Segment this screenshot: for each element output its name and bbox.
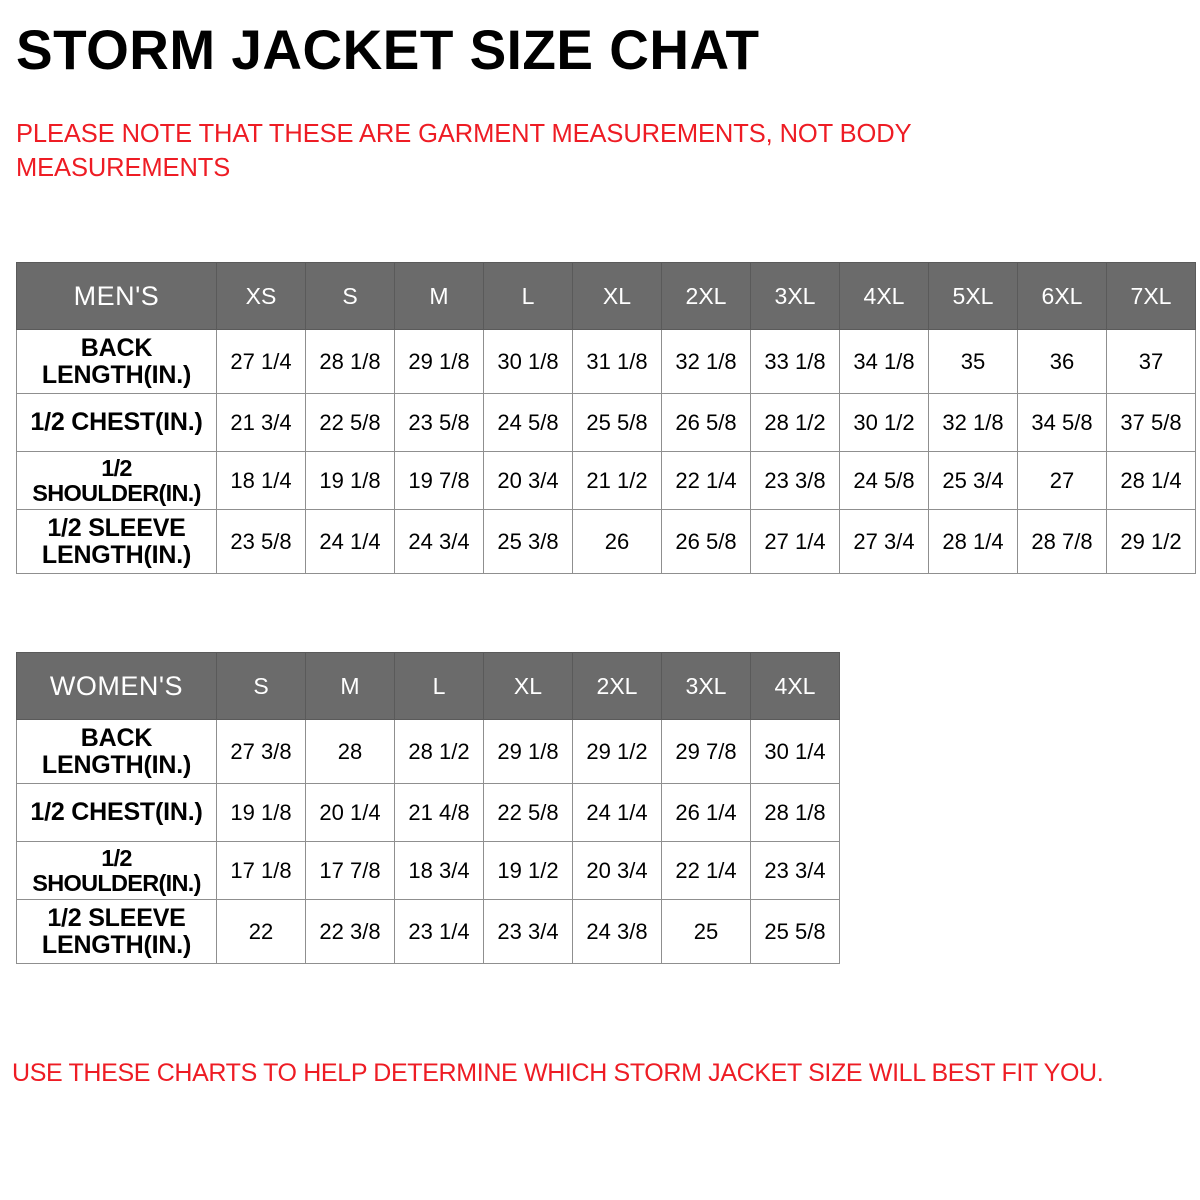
mens-size-header-6xl: 6XL — [1018, 263, 1107, 330]
measurement-cell: 21 3/4 — [217, 394, 306, 452]
measurement-cell: 30 1/8 — [484, 330, 573, 394]
measurement-cell: 34 1/8 — [840, 330, 929, 394]
measurement-cell: 23 3/4 — [751, 842, 840, 900]
mens-header-row: MEN'SXSSMLXL2XL3XL4XL5XL6XL7XL — [17, 263, 1196, 330]
measurement-cell: 19 1/8 — [217, 784, 306, 842]
womens-size-header-s: S — [217, 653, 306, 720]
measurement-cell: 20 1/4 — [306, 784, 395, 842]
measurement-cell: 27 3/4 — [840, 510, 929, 574]
womens-row-label: 1/2 SLEEVE LENGTH(IN.) — [17, 900, 217, 964]
measurement-cell: 29 1/8 — [395, 330, 484, 394]
mens-size-header-s: S — [306, 263, 395, 330]
measurement-cell: 29 1/8 — [484, 720, 573, 784]
womens-size-header-m: M — [306, 653, 395, 720]
measurement-cell: 23 3/4 — [484, 900, 573, 964]
mens-size-header-4xl: 4XL — [840, 263, 929, 330]
mens-table-head: MEN'SXSSMLXL2XL3XL4XL5XL6XL7XL — [17, 263, 1196, 330]
mens-size-header-3xl: 3XL — [751, 263, 840, 330]
table-row: BACK LENGTH(IN.)27 1/428 1/829 1/830 1/8… — [17, 330, 1196, 394]
measurement-cell: 28 1/4 — [929, 510, 1018, 574]
measurement-cell: 35 — [929, 330, 1018, 394]
measurement-cell: 22 5/8 — [306, 394, 395, 452]
mens-size-header-l: L — [484, 263, 573, 330]
table-row: 1/2 SLEEVE LENGTH(IN.)23 5/824 1/424 3/4… — [17, 510, 1196, 574]
table-row: BACK LENGTH(IN.)27 3/82828 1/229 1/829 1… — [17, 720, 840, 784]
womens-size-header-4xl: 4XL — [751, 653, 840, 720]
size-chart-page: STORM JACKET SIZE CHAT PLEASE NOTE THAT … — [0, 0, 1200, 1200]
measurement-cell: 28 — [306, 720, 395, 784]
womens-size-header-l: L — [395, 653, 484, 720]
womens-row-label: 1/2 CHEST(IN.) — [17, 784, 217, 842]
measurement-cell: 21 4/8 — [395, 784, 484, 842]
measurement-cell: 23 5/8 — [395, 394, 484, 452]
measurement-cell: 28 1/2 — [395, 720, 484, 784]
measurement-cell: 25 5/8 — [751, 900, 840, 964]
womens-row-label: 1/2 SHOULDER(IN.) — [17, 842, 217, 900]
womens-size-header-3xl: 3XL — [662, 653, 751, 720]
measurement-cell: 23 3/8 — [751, 452, 840, 510]
womens-size-table: WOMEN'SSMLXL2XL3XL4XL BACK LENGTH(IN.)27… — [16, 652, 840, 964]
measurement-cell: 20 3/4 — [573, 842, 662, 900]
mens-row-label: 1/2 SHOULDER(IN.) — [17, 452, 217, 510]
mens-table-body: BACK LENGTH(IN.)27 1/428 1/829 1/830 1/8… — [17, 330, 1196, 574]
help-determine-size-note: USE THESE CHARTS TO HELP DETERMINE WHICH… — [12, 1058, 1172, 1089]
table-row: 1/2 CHEST(IN.)19 1/820 1/421 4/822 5/824… — [17, 784, 840, 842]
measurement-cell: 34 5/8 — [1018, 394, 1107, 452]
measurement-cell: 23 1/4 — [395, 900, 484, 964]
mens-size-header-2xl: 2XL — [662, 263, 751, 330]
measurement-cell: 18 3/4 — [395, 842, 484, 900]
measurement-cell: 28 1/8 — [751, 784, 840, 842]
measurement-cell: 19 1/2 — [484, 842, 573, 900]
measurement-cell: 24 3/4 — [395, 510, 484, 574]
measurement-cell: 17 1/8 — [217, 842, 306, 900]
table-row: 1/2 CHEST(IN.)21 3/422 5/823 5/824 5/825… — [17, 394, 1196, 452]
measurement-cell: 22 — [217, 900, 306, 964]
garment-measurement-note: PLEASE NOTE THAT THESE ARE GARMENT MEASU… — [16, 118, 986, 186]
mens-size-header-7xl: 7XL — [1107, 263, 1196, 330]
measurement-cell: 37 5/8 — [1107, 394, 1196, 452]
measurement-cell: 28 7/8 — [1018, 510, 1107, 574]
measurement-cell: 33 1/8 — [751, 330, 840, 394]
womens-row-label: BACK LENGTH(IN.) — [17, 720, 217, 784]
measurement-cell: 21 1/2 — [573, 452, 662, 510]
measurement-cell: 22 1/4 — [662, 842, 751, 900]
measurement-cell: 24 3/8 — [573, 900, 662, 964]
measurement-cell: 20 3/4 — [484, 452, 573, 510]
measurement-cell: 29 1/2 — [1107, 510, 1196, 574]
womens-table-head: WOMEN'SSMLXL2XL3XL4XL — [17, 653, 840, 720]
measurement-cell: 22 3/8 — [306, 900, 395, 964]
measurement-cell: 24 1/4 — [573, 784, 662, 842]
mens-size-header-5xl: 5XL — [929, 263, 1018, 330]
measurement-cell: 18 1/4 — [217, 452, 306, 510]
measurement-cell: 28 1/4 — [1107, 452, 1196, 510]
measurement-cell: 29 1/2 — [573, 720, 662, 784]
table-row: 1/2 SHOULDER(IN.)17 1/817 7/818 3/419 1/… — [17, 842, 840, 900]
measurement-cell: 32 1/8 — [929, 394, 1018, 452]
measurement-cell: 25 — [662, 900, 751, 964]
measurement-cell: 22 5/8 — [484, 784, 573, 842]
measurement-cell: 25 5/8 — [573, 394, 662, 452]
measurement-cell: 17 7/8 — [306, 842, 395, 900]
womens-corner-label: WOMEN'S — [17, 653, 217, 720]
measurement-cell: 27 — [1018, 452, 1107, 510]
measurement-cell: 30 1/4 — [751, 720, 840, 784]
mens-row-label: BACK LENGTH(IN.) — [17, 330, 217, 394]
measurement-cell: 24 5/8 — [484, 394, 573, 452]
measurement-cell: 19 1/8 — [306, 452, 395, 510]
measurement-cell: 26 — [573, 510, 662, 574]
measurement-cell: 36 — [1018, 330, 1107, 394]
measurement-cell: 25 3/8 — [484, 510, 573, 574]
measurement-cell: 28 1/2 — [751, 394, 840, 452]
measurement-cell: 37 — [1107, 330, 1196, 394]
measurement-cell: 19 7/8 — [395, 452, 484, 510]
measurement-cell: 24 5/8 — [840, 452, 929, 510]
mens-size-header-m: M — [395, 263, 484, 330]
measurement-cell: 29 7/8 — [662, 720, 751, 784]
measurement-cell: 24 1/4 — [306, 510, 395, 574]
measurement-cell: 23 5/8 — [217, 510, 306, 574]
measurement-cell: 27 3/8 — [217, 720, 306, 784]
mens-size-header-xl: XL — [573, 263, 662, 330]
measurement-cell: 27 1/4 — [751, 510, 840, 574]
measurement-cell: 28 1/8 — [306, 330, 395, 394]
measurement-cell: 25 3/4 — [929, 452, 1018, 510]
measurement-cell: 27 1/4 — [217, 330, 306, 394]
mens-corner-label: MEN'S — [17, 263, 217, 330]
womens-size-header-xl: XL — [484, 653, 573, 720]
table-row: 1/2 SHOULDER(IN.)18 1/419 1/819 7/820 3/… — [17, 452, 1196, 510]
measurement-cell: 26 5/8 — [662, 394, 751, 452]
measurement-cell: 26 1/4 — [662, 784, 751, 842]
measurement-cell: 31 1/8 — [573, 330, 662, 394]
measurement-cell: 30 1/2 — [840, 394, 929, 452]
mens-size-table: MEN'SXSSMLXL2XL3XL4XL5XL6XL7XL BACK LENG… — [16, 262, 1196, 574]
table-row: 1/2 SLEEVE LENGTH(IN.)2222 3/823 1/423 3… — [17, 900, 840, 964]
measurement-cell: 22 1/4 — [662, 452, 751, 510]
measurement-cell: 32 1/8 — [662, 330, 751, 394]
mens-row-label: 1/2 SLEEVE LENGTH(IN.) — [17, 510, 217, 574]
mens-row-label: 1/2 CHEST(IN.) — [17, 394, 217, 452]
womens-size-header-2xl: 2XL — [573, 653, 662, 720]
womens-table-body: BACK LENGTH(IN.)27 3/82828 1/229 1/829 1… — [17, 720, 840, 964]
page-title: STORM JACKET SIZE CHAT — [16, 22, 760, 78]
mens-size-header-xs: XS — [217, 263, 306, 330]
womens-header-row: WOMEN'SSMLXL2XL3XL4XL — [17, 653, 840, 720]
measurement-cell: 26 5/8 — [662, 510, 751, 574]
